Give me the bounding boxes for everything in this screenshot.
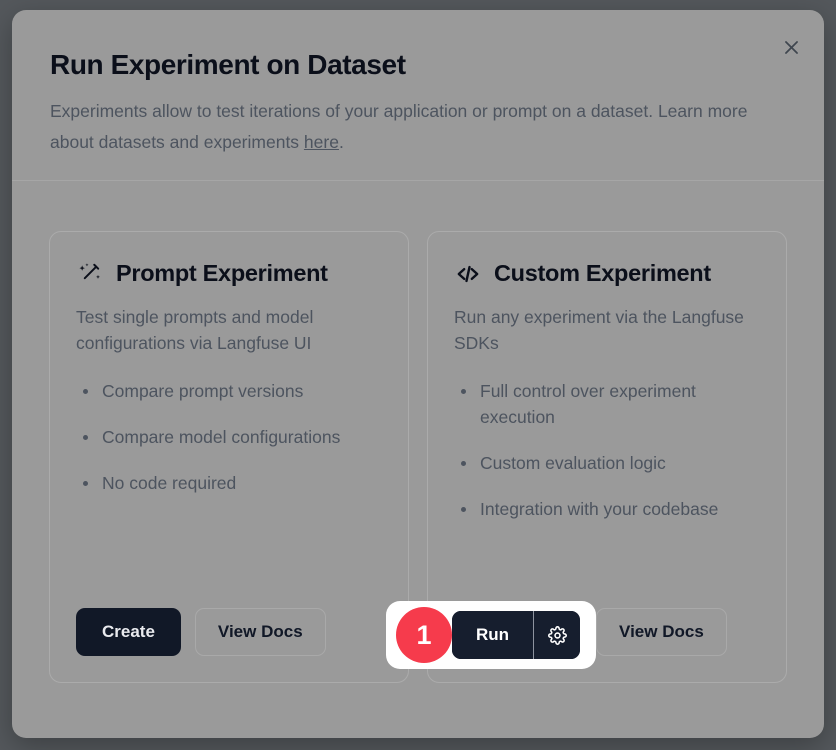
dialog-header: Run Experiment on Dataset Experiments al…	[12, 10, 824, 181]
list-item: Full control over experiment execution	[454, 379, 760, 431]
card-subtitle: Run any experiment via the Langfuse SDKs	[454, 304, 760, 357]
list-item-label: Integration with your codebase	[480, 499, 718, 519]
description-text-end: .	[339, 132, 344, 152]
run-button-highlighted[interactable]: Run	[452, 611, 533, 659]
card-feature-list: Full control over experiment execution C…	[454, 379, 760, 543]
bullet-dot-icon	[83, 481, 88, 486]
bullet-dot-icon	[461, 461, 466, 466]
card-heading: Prompt Experiment	[76, 260, 382, 288]
bullet-dot-icon	[83, 389, 88, 394]
create-button[interactable]: Create	[76, 608, 181, 656]
close-icon	[782, 38, 801, 57]
close-button[interactable]	[774, 30, 808, 64]
list-item: Compare model configurations	[76, 425, 382, 451]
step-number-badge: 1	[396, 607, 452, 663]
list-item: Compare prompt versions	[76, 379, 382, 405]
list-item: Integration with your codebase	[454, 497, 760, 523]
description-text-start: Experiments allow to test iterations of …	[50, 101, 747, 152]
list-item-label: Compare prompt versions	[102, 381, 303, 401]
list-item-label: No code required	[102, 473, 236, 493]
bullet-dot-icon	[461, 389, 466, 394]
card-title: Prompt Experiment	[116, 260, 328, 287]
list-item: No code required	[76, 471, 382, 497]
card-actions: Create View Docs	[76, 608, 382, 656]
run-settings-button-highlighted[interactable]	[534, 611, 580, 659]
view-docs-button-prompt[interactable]: View Docs	[195, 608, 326, 656]
card-prompt-experiment[interactable]: Prompt Experiment Test single prompts an…	[49, 231, 409, 683]
bullet-dot-icon	[461, 507, 466, 512]
card-feature-list: Compare prompt versions Compare model co…	[76, 379, 382, 517]
list-item: Custom evaluation logic	[454, 451, 760, 477]
modal-overlay[interactable]: Run Experiment on Dataset Experiments al…	[0, 0, 836, 750]
view-docs-button-custom[interactable]: View Docs	[596, 608, 727, 656]
card-heading: Custom Experiment	[454, 260, 760, 288]
page-title: Run Experiment on Dataset	[50, 48, 786, 82]
dialog-description: Experiments allow to test iterations of …	[50, 96, 750, 158]
list-item-label: Custom evaluation logic	[480, 453, 666, 473]
card-subtitle: Test single prompts and model configurat…	[76, 304, 382, 357]
bullet-dot-icon	[83, 435, 88, 440]
run-split-button-highlighted[interactable]: Run	[452, 611, 580, 659]
list-item-label: Compare model configurations	[102, 427, 340, 447]
card-title: Custom Experiment	[494, 260, 711, 287]
gear-icon	[548, 626, 567, 645]
list-item-label: Full control over experiment execution	[480, 381, 696, 427]
magic-wand-icon	[76, 260, 104, 288]
learn-more-link[interactable]: here	[304, 132, 339, 152]
code-brackets-icon	[454, 260, 482, 288]
